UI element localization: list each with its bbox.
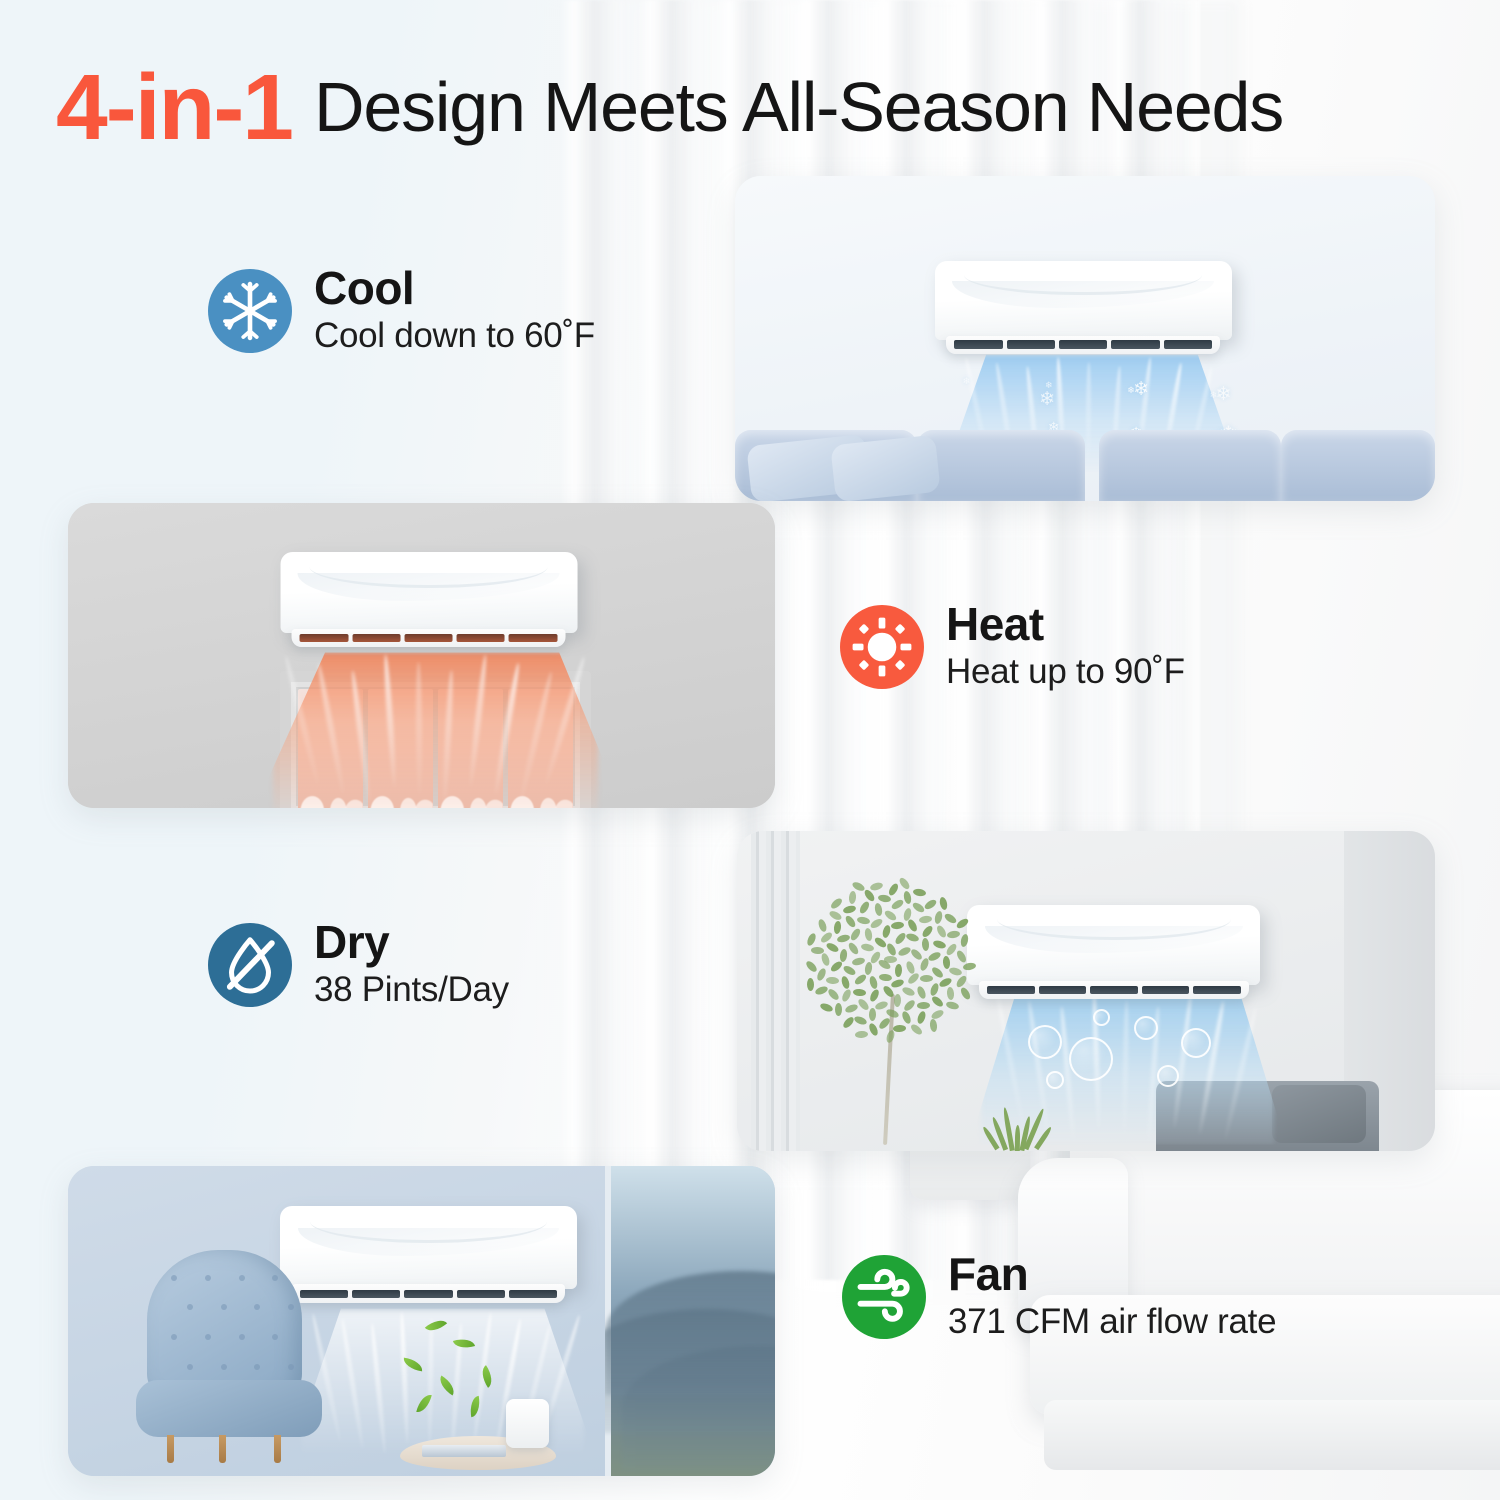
feature-dry: Dry 38 Pints/Day [208, 918, 509, 1012]
dry-small-plant [988, 1109, 1051, 1151]
feature-desc-dry: 38 Pints/Day [314, 968, 509, 1012]
feature-fan: Fan 371 CFM air flow rate [842, 1250, 1276, 1344]
feature-title-heat: Heat [946, 600, 1185, 648]
ac-unit-dry [967, 905, 1260, 1014]
sun-icon [840, 605, 924, 689]
photo-panel-fan [68, 1166, 775, 1476]
fan-window-mountain-view [605, 1166, 775, 1476]
feature-title-cool: Cool [314, 264, 595, 312]
heat-window [280, 671, 591, 808]
feature-title-dry: Dry [314, 918, 509, 966]
cool-sofa [735, 430, 1435, 502]
ac-unit-heat [280, 552, 577, 662]
dry-olive-tree [793, 876, 974, 1145]
wind-icon [842, 1255, 926, 1339]
feature-desc-fan: 371 CFM air flow rate [948, 1300, 1276, 1344]
snowflake-icon [208, 269, 292, 353]
ac-unit-cool [935, 261, 1233, 368]
photo-panel-dry [737, 831, 1435, 1151]
feature-cool: Cool Cool down to 60˚F [208, 264, 595, 358]
headline-accent: 4-in-1 [56, 61, 292, 154]
feature-desc-cool: Cool down to 60˚F [314, 314, 595, 358]
photo-panel-cool: ❄❄❄❄❄❄❄❄❄❄❄❄❄❄ [735, 176, 1435, 501]
page-title: 4-in-1 Design Meets All-Season Needs [56, 52, 1456, 162]
headline-rest: Design Meets All-Season Needs [314, 72, 1283, 142]
no-humidity-icon [208, 923, 292, 1007]
photo-panel-heat [68, 503, 775, 808]
dry-sofa [1156, 1081, 1379, 1151]
fan-diffuser [506, 1399, 548, 1449]
infographic-page: 4-in-1 Design Meets All-Season Needs ❄❄❄… [0, 0, 1500, 1500]
feature-heat: Heat Heat up to 90˚F [840, 600, 1185, 694]
fan-armchair [132, 1250, 330, 1461]
fan-books [422, 1445, 507, 1457]
feature-title-fan: Fan [948, 1250, 1276, 1298]
feature-desc-heat: Heat up to 90˚F [946, 650, 1185, 694]
